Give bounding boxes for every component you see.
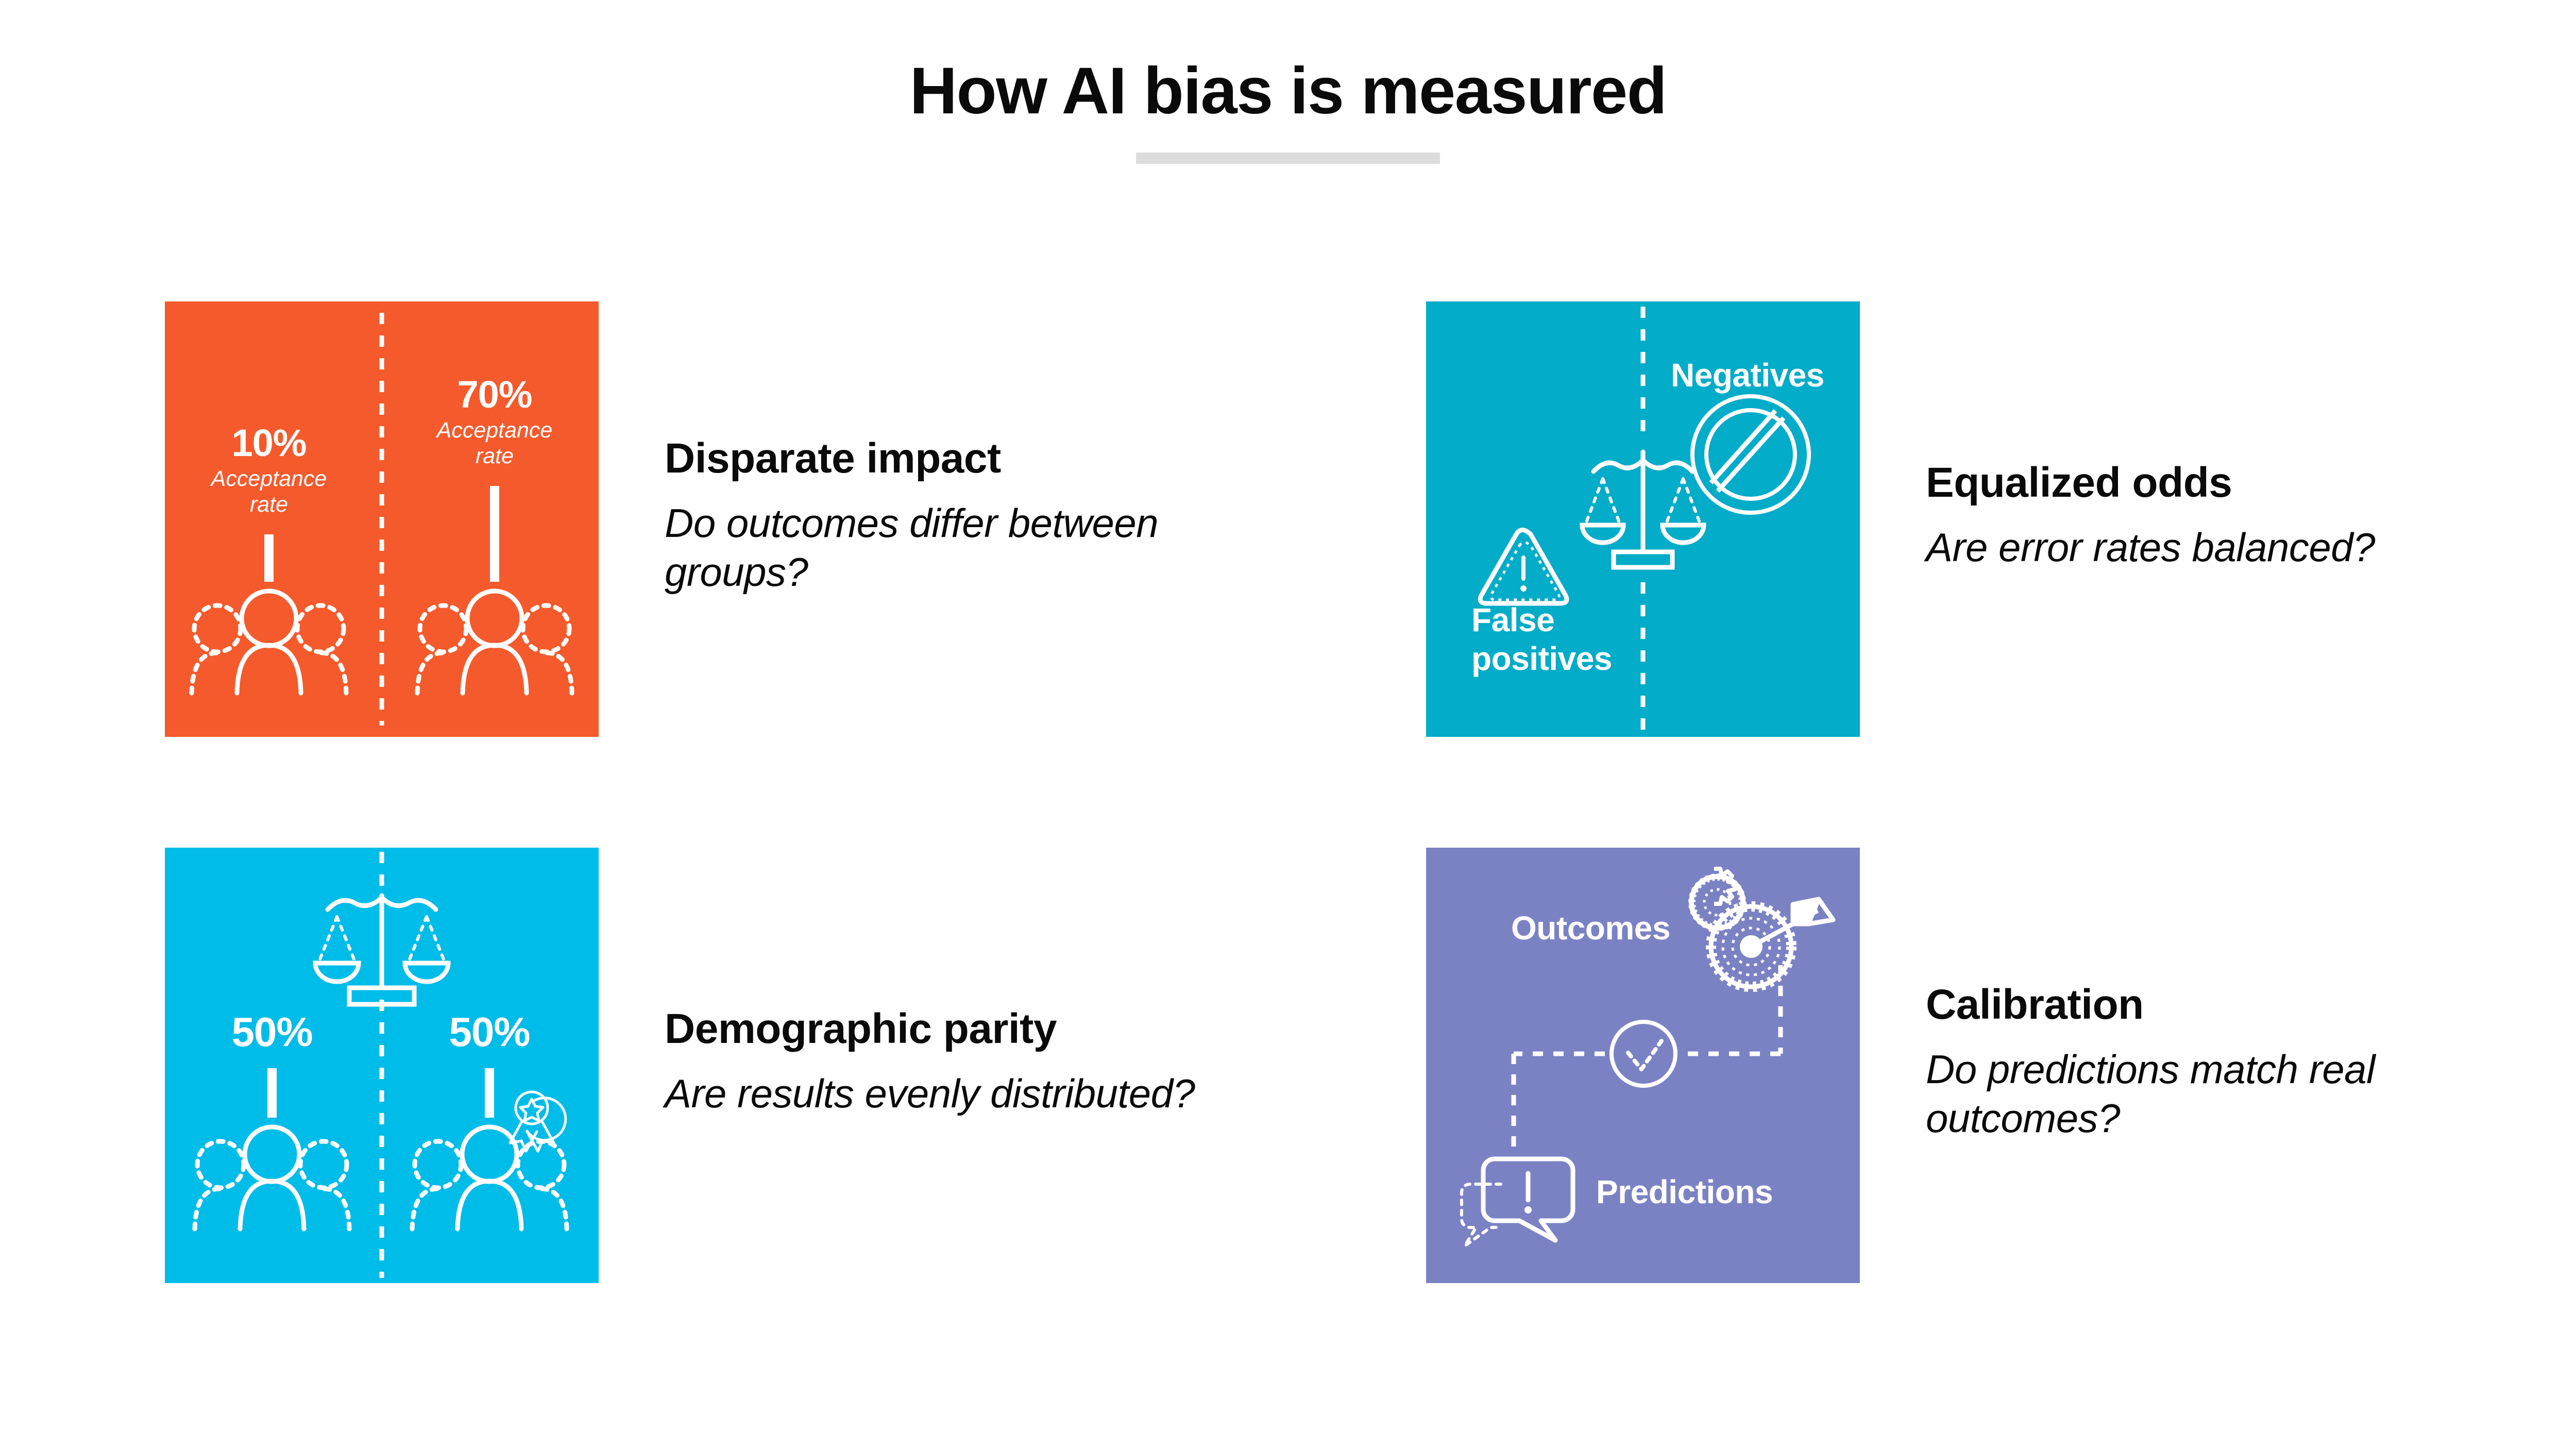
grid-row-2: 50% 50% (165, 848, 2442, 1283)
copy-demographic-parity: Demographic parity Are results evenly di… (665, 1007, 1195, 1123)
card-subtitle: Do predictions match real outcomes? (1926, 1045, 2442, 1143)
copy-calibration: Calibration Do predictions match real ou… (1926, 983, 2442, 1148)
svg-text:Acceptance: Acceptance (210, 466, 327, 491)
card-equalized-odds[interactable]: Negatives (1426, 301, 2442, 737)
svg-text:50%: 50% (449, 1009, 530, 1055)
svg-text:10%: 10% (231, 422, 306, 464)
card-calibration[interactable]: Outcomes (1426, 848, 2442, 1283)
card-subtitle: Do outcomes differ between groups? (665, 499, 1262, 597)
page-title: How AI bias is measured (0, 0, 2576, 126)
card-demographic-parity[interactable]: 50% 50% (165, 848, 1426, 1283)
card-subtitle: Are results evenly distributed? (665, 1069, 1195, 1118)
svg-text:positives: positives (1471, 640, 1612, 677)
panel-grid: 10% Acceptance rate 70% Acc (165, 301, 2442, 1283)
copy-equalized-odds: Equalized odds Are error rates balanced? (1926, 461, 2375, 577)
svg-text:50%: 50% (231, 1009, 312, 1055)
svg-text:rate: rate (476, 444, 514, 468)
panel-calibration-graphic: Outcomes (1426, 848, 1860, 1283)
card-title: Disparate impact (665, 436, 1262, 481)
svg-text:Predictions: Predictions (1596, 1173, 1773, 1210)
copy-disparate-impact: Disparate impact Do outcomes differ betw… (665, 436, 1262, 602)
svg-text:Acceptance: Acceptance (435, 418, 553, 443)
title-divider-rule (1136, 153, 1440, 164)
svg-text:Negatives: Negatives (1671, 357, 1824, 394)
card-subtitle: Are error rates balanced? (1926, 523, 2375, 572)
panel-equalized-odds-graphic: Negatives (1426, 301, 1860, 737)
page-header: How AI bias is measured (0, 0, 2576, 164)
panel-demographic-parity-graphic: 50% 50% (165, 848, 599, 1283)
card-title: Demographic parity (665, 1007, 1195, 1052)
svg-text:Outcomes: Outcomes (1511, 909, 1670, 947)
card-title: Calibration (1926, 983, 2442, 1027)
svg-text:70%: 70% (457, 373, 532, 416)
panel-disparate-impact-graphic: 10% Acceptance rate 70% Acc (165, 301, 599, 737)
grid-row-1: 10% Acceptance rate 70% Acc (165, 301, 2442, 737)
svg-text:rate: rate (250, 492, 288, 517)
card-title: Equalized odds (1926, 461, 2375, 506)
svg-text:False: False (1471, 601, 1554, 638)
card-disparate-impact[interactable]: 10% Acceptance rate 70% Acc (165, 301, 1426, 737)
